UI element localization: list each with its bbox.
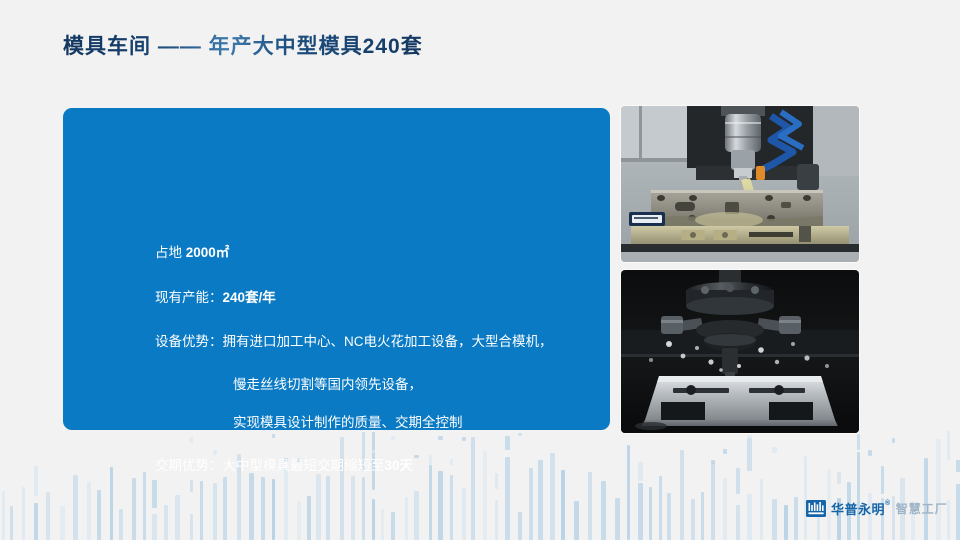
panel-line-delivery-label: 交期优势： bbox=[155, 458, 223, 473]
brand-trademark: ® bbox=[885, 500, 891, 507]
photo-cnc-drilling-graphic bbox=[621, 270, 859, 433]
panel-line-area-value: 2000㎡ bbox=[186, 245, 230, 260]
panel-line-area-label: 占地 bbox=[155, 245, 186, 260]
panel-line-capacity: 现有产能：240套/年 bbox=[155, 289, 276, 307]
info-panel: 占地 2000㎡ 现有产能：240套/年 设备优势：拥有进口加工中心、NC电火花… bbox=[63, 108, 610, 430]
photo-cnc-machining-center bbox=[621, 106, 859, 262]
photo-cnc-drilling bbox=[621, 270, 859, 433]
panel-line-capacity-label: 现有产能： bbox=[155, 290, 223, 305]
panel-line-equipment-3-value: 实现模具设计制作的质量、交期全控制 bbox=[233, 415, 463, 430]
panel-line-equipment-3: 实现模具设计制作的质量、交期全控制 bbox=[233, 414, 463, 432]
panel-line-delivery: 交期优势：大中型模具最短交期缩短至30天 bbox=[155, 457, 413, 475]
brand-name-text: 华普永明 bbox=[831, 499, 885, 518]
page-title: 模具车间 —— 年产大中型模具240套 bbox=[63, 30, 423, 60]
panel-line-capacity-value: 240套/年 bbox=[223, 290, 276, 305]
panel-line-delivery-value-highlight: 30天 bbox=[385, 458, 414, 473]
panel-line-equipment-1-value: 拥有进口加工中心、NC电火花加工设备，大型合模机， bbox=[223, 334, 553, 349]
huapu-bar-mark-icon bbox=[806, 500, 826, 517]
panel-line-delivery-value: 大中型模具最短交期缩短至 bbox=[223, 458, 385, 473]
vertical-bar-pattern bbox=[0, 425, 960, 540]
brand-logo: 华普永明® 智慧工厂 bbox=[806, 497, 948, 519]
brand-name: 华普永明® bbox=[831, 499, 891, 518]
photo-cnc-machining-center-graphic bbox=[621, 106, 859, 262]
panel-line-equipment-1: 设备优势：拥有进口加工中心、NC电火花加工设备，大型合模机， bbox=[155, 333, 553, 351]
panel-line-area: 占地 2000㎡ bbox=[155, 244, 229, 262]
brand-tagline: 智慧工厂 bbox=[896, 500, 948, 517]
panel-line-equipment-2-value: 慢走丝线切割等国内领先设备， bbox=[233, 377, 422, 392]
panel-line-equipment-label: 设备优势： bbox=[155, 334, 223, 349]
panel-line-equipment-2: 慢走丝线切割等国内领先设备， bbox=[233, 376, 422, 394]
